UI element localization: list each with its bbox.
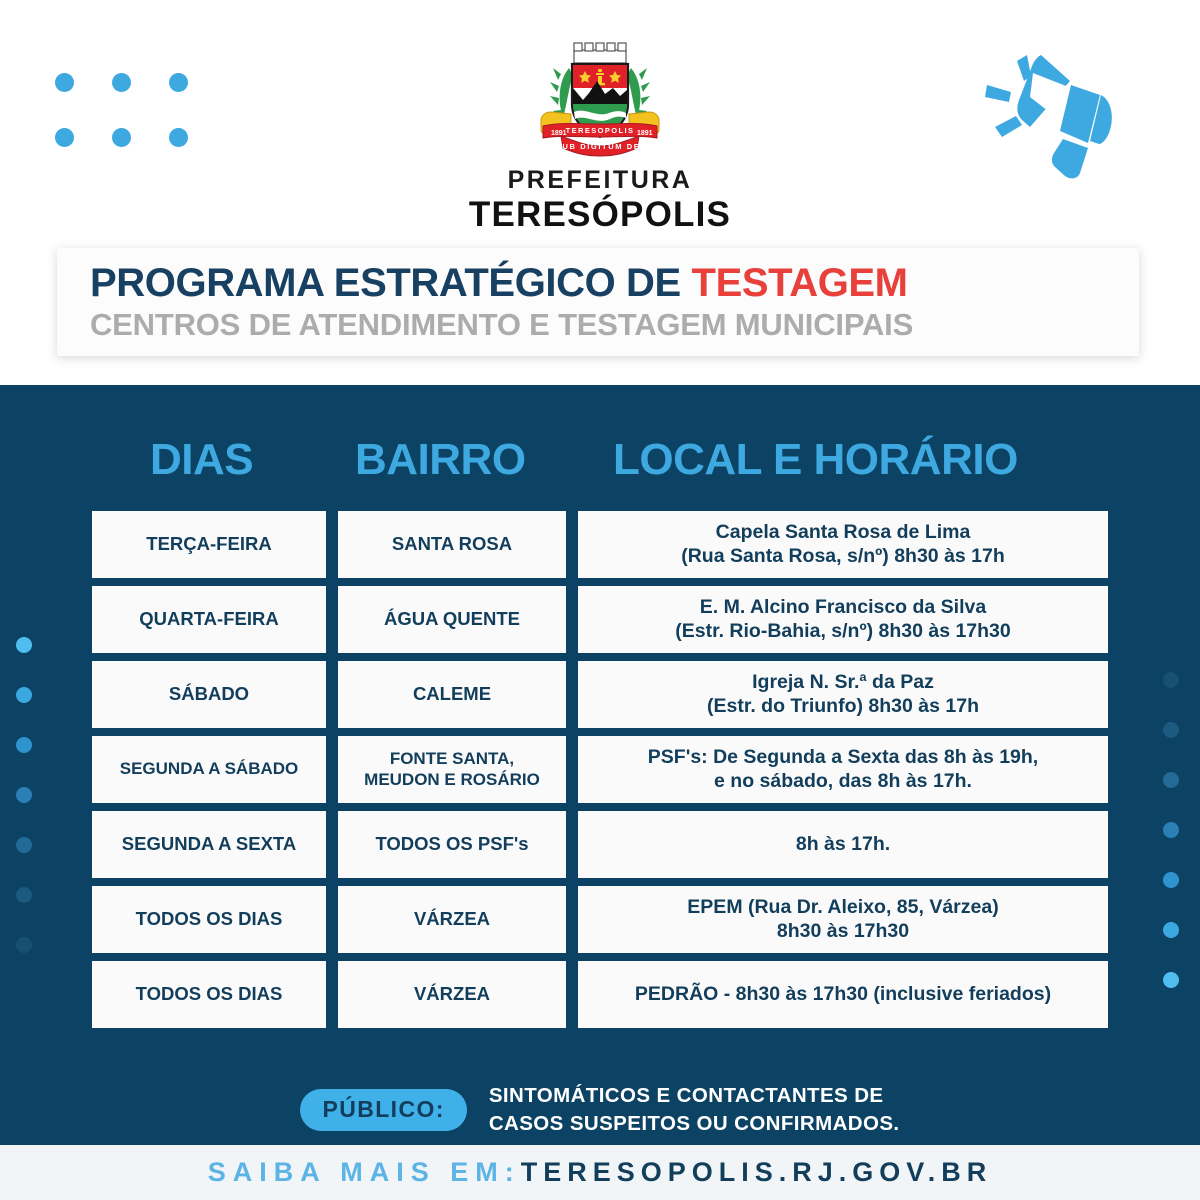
cell-local-line2: 8h30 às 17h30 — [687, 920, 998, 944]
dot — [1163, 922, 1179, 938]
dot — [16, 637, 32, 653]
cell-dias: TERÇA-FEIRA — [92, 511, 326, 578]
publico-section: PÚBLICO: SINTOMÁTICOS E CONTACTANTES DE … — [0, 1082, 1200, 1137]
cell-local-line1: PSF's: De Segunda a Sexta das 8h às 19h, — [648, 746, 1038, 770]
publico-line2: CASOS SUSPEITOS OU CONFIRMADOS. — [489, 1110, 900, 1138]
cell-bairro: VÁRZEA — [338, 886, 566, 953]
table-header-row: DIAS BAIRRO LOCAL E HORÁRIO — [0, 438, 1200, 500]
publico-text: SINTOMÁTICOS E CONTACTANTES DE CASOS SUS… — [489, 1082, 900, 1137]
cell-local: 8h às 17h. — [578, 811, 1108, 878]
cell-local-line2: (Estr. do Triunfo) 8h30 às 17h — [707, 695, 979, 719]
dot — [1163, 722, 1179, 738]
dot — [1163, 972, 1179, 988]
cell-dias: TODOS OS DIAS — [92, 961, 326, 1028]
publico-line1: SINTOMÁTICOS E CONTACTANTES DE — [489, 1082, 900, 1110]
cell-local: E. M. Alcino Francisco da Silva (Estr. R… — [578, 586, 1108, 653]
table-row: TODOS OS DIAS VÁRZEA EPEM (Rua Dr. Aleix… — [92, 886, 1108, 953]
footer-bar: SAIBA MAIS EM: TERESOPOLIS.RJ.GOV.BR — [0, 1145, 1200, 1200]
cell-local-line2: e no sábado, das 8h às 17h. — [648, 770, 1038, 794]
coat-of-arms-icon: 1891 1891 TERESOPOLIS SUB DIGITUM DEI — [525, 38, 675, 163]
cell-bairro: SANTA ROSA — [338, 511, 566, 578]
column-header-dias: DIAS — [150, 438, 253, 482]
table-row: SEGUNDA A SEXTA TODOS OS PSF's 8h às 17h… — [92, 811, 1108, 878]
column-header-local: LOCAL E HORÁRIO — [613, 438, 1018, 482]
cell-local: PSF's: De Segunda a Sexta das 8h às 19h,… — [578, 736, 1108, 803]
dot — [16, 687, 32, 703]
table-row: TODOS OS DIAS VÁRZEA PEDRÃO - 8h30 às 17… — [92, 961, 1108, 1028]
cell-bairro: TODOS OS PSF's — [338, 811, 566, 878]
dot — [16, 937, 32, 953]
cell-dias: TODOS OS DIAS — [92, 886, 326, 953]
cell-dias: SÁBADO — [92, 661, 326, 728]
dot — [16, 887, 32, 903]
dot — [1163, 822, 1179, 838]
cell-local-line1: Igreja N. Sr.ª da Paz — [707, 671, 979, 695]
svg-text:1891: 1891 — [637, 130, 653, 137]
cell-local-line1: Capela Santa Rosa de Lima — [681, 521, 1005, 545]
cell-local-line2: (Rua Santa Rosa, s/nº) 8h30 às 17h — [681, 545, 1005, 569]
table-row: SEGUNDA A SÁBADO FONTE SANTA, MEUDON E R… — [92, 736, 1108, 803]
publico-badge: PÚBLICO: — [300, 1089, 466, 1131]
dot-column-left — [16, 637, 32, 987]
schedule-table: TERÇA-FEIRA SANTA ROSA Capela Santa Rosa… — [92, 511, 1108, 1036]
cell-bairro: FONTE SANTA, MEUDON E ROSÁRIO — [338, 736, 566, 803]
table-row: SÁBADO CALEME Igreja N. Sr.ª da Paz (Est… — [92, 661, 1108, 728]
page-subtitle: CENTROS DE ATENDIMENTO E TESTAGEM MUNICI… — [90, 308, 1139, 342]
footer-lead-text: SAIBA MAIS EM: — [208, 1159, 521, 1186]
cell-bairro: ÁGUA QUENTE — [338, 586, 566, 653]
dot — [16, 737, 32, 753]
cell-local: PEDRÃO - 8h30 às 17h30 (inclusive feriad… — [578, 961, 1108, 1028]
dot-column-right — [1163, 672, 1179, 1022]
svg-text:TERESOPOLIS: TERESOPOLIS — [566, 126, 635, 135]
dot — [16, 837, 32, 853]
cell-dias: SEGUNDA A SÁBADO — [92, 736, 326, 803]
cell-local-line1: E. M. Alcino Francisco da Silva — [675, 596, 1011, 620]
cell-local-line1: EPEM (Rua Dr. Aleixo, 85, Várzea) — [687, 896, 998, 920]
table-row: QUARTA-FEIRA ÁGUA QUENTE E. M. Alcino Fr… — [92, 586, 1108, 653]
table-row: TERÇA-FEIRA SANTA ROSA Capela Santa Rosa… — [92, 511, 1108, 578]
cell-local: Igreja N. Sr.ª da Paz (Estr. do Triunfo)… — [578, 661, 1108, 728]
dot — [1163, 872, 1179, 888]
cell-bairro-line1: FONTE SANTA, — [364, 749, 540, 770]
cell-bairro: CALEME — [338, 661, 566, 728]
cell-dias: SEGUNDA A SEXTA — [92, 811, 326, 878]
cell-local: EPEM (Rua Dr. Aleixo, 85, Várzea) 8h30 à… — [578, 886, 1108, 953]
column-header-bairro: BAIRRO — [355, 438, 526, 482]
cell-bairro-line2: MEUDON E ROSÁRIO — [364, 770, 540, 791]
footer-website-url[interactable]: TERESOPOLIS.RJ.GOV.BR — [521, 1159, 993, 1186]
cell-local: Capela Santa Rosa de Lima (Rua Santa Ros… — [578, 511, 1108, 578]
title-banner: PROGRAMA ESTRATÉGICO DE TESTAGEM CENTROS… — [57, 248, 1139, 356]
svg-text:1891: 1891 — [551, 130, 567, 137]
cell-dias: QUARTA-FEIRA — [92, 586, 326, 653]
dot — [1163, 772, 1179, 788]
megaphone-icon — [975, 45, 1125, 180]
page-title-accent: TESTAGEM — [692, 261, 908, 305]
page-title: PROGRAMA ESTRATÉGICO DE TESTAGEM — [90, 262, 1139, 305]
svg-text:SUB DIGITUM DEI: SUB DIGITUM DEI — [556, 142, 644, 151]
page-title-prefix: PROGRAMA ESTRATÉGICO DE — [90, 261, 692, 305]
cell-local-line2: (Estr. Rio-Bahia, s/nº) 8h30 às 17h30 — [675, 620, 1011, 644]
dot — [16, 787, 32, 803]
cell-bairro: VÁRZEA — [338, 961, 566, 1028]
dot — [1163, 672, 1179, 688]
brand-city: TERESÓPOLIS — [0, 197, 1200, 232]
